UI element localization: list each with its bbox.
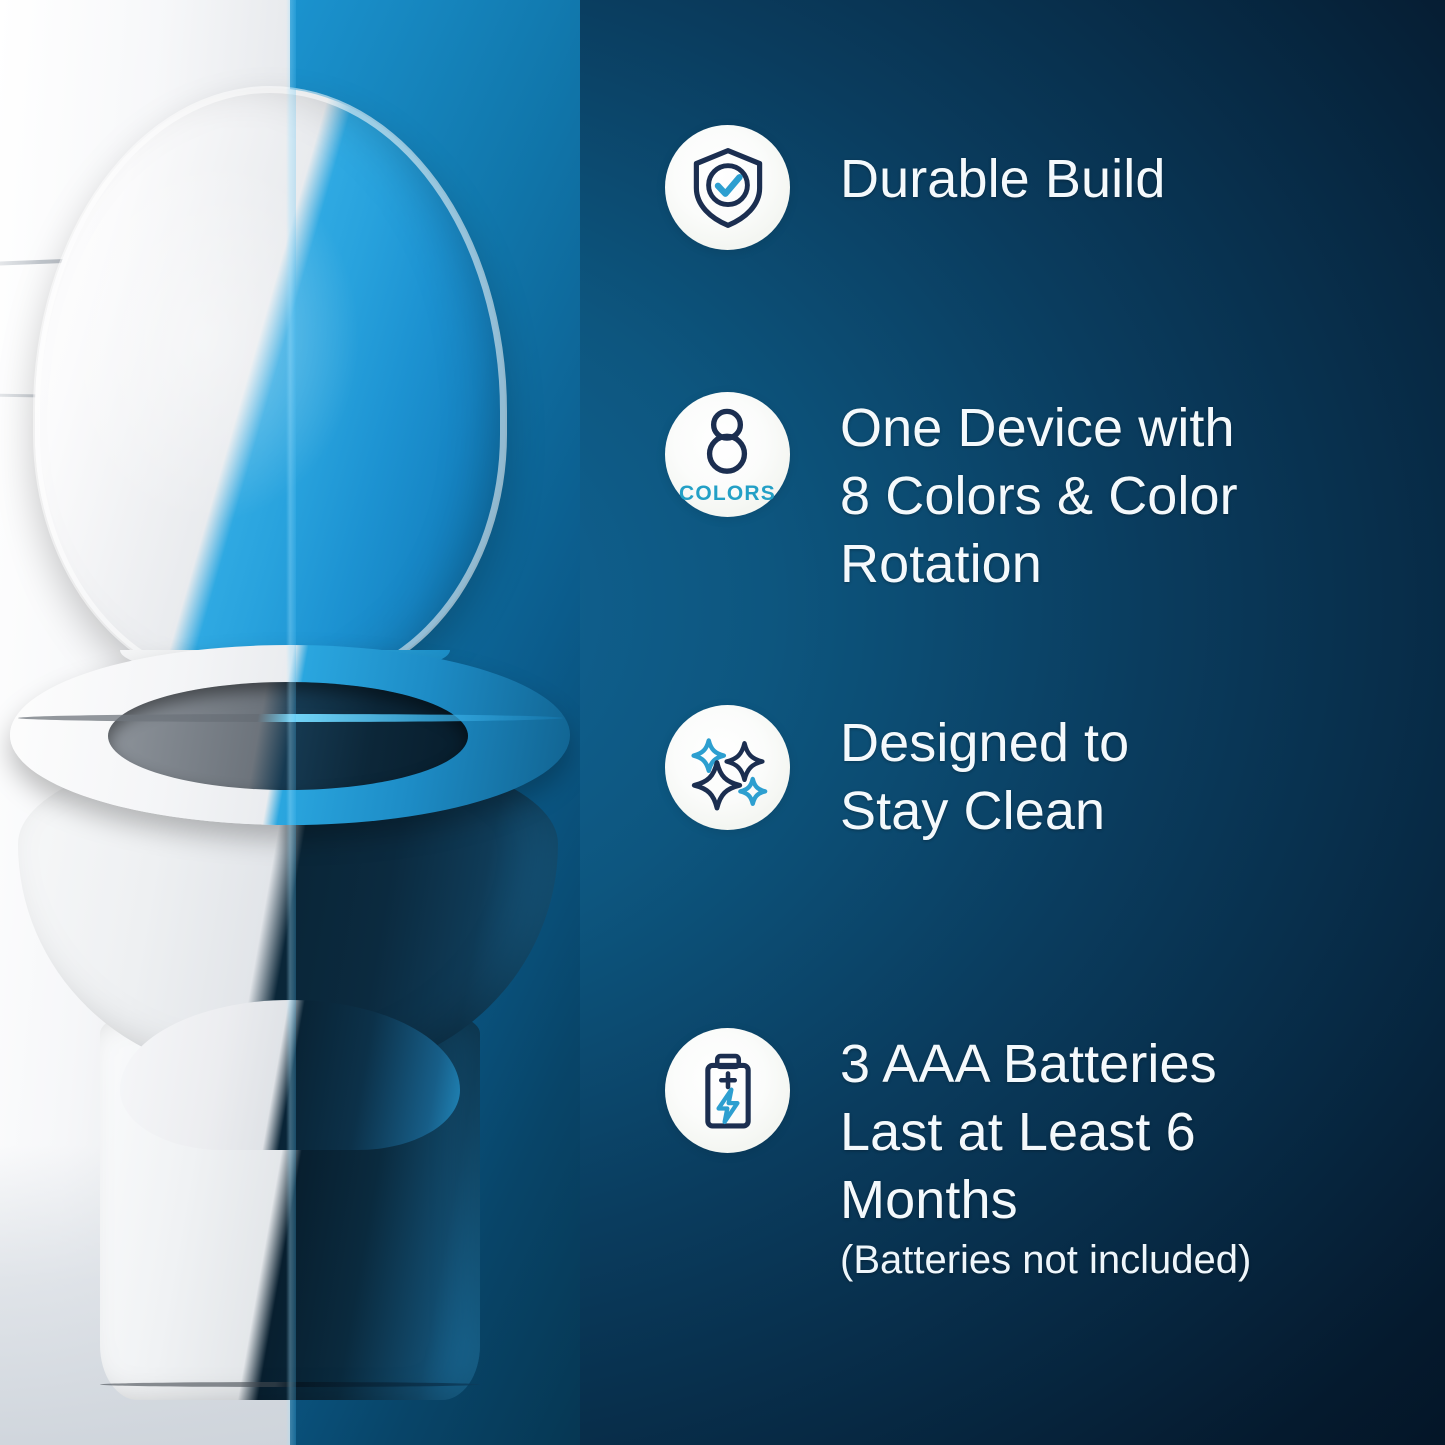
feature-text-durable-build: Durable Build [840, 125, 1166, 213]
eight-colors-label: COLORS [679, 483, 776, 504]
feature-line: 8 Colors & Color [840, 462, 1238, 530]
feature-item-battery-life: 3 AAA Batteries Last at Least 6 Months (… [640, 1028, 1251, 1286]
digit-eight-outline-icon [696, 405, 758, 477]
feature-list: Durable Build COLORS One Device with 8 C… [640, 0, 1445, 1445]
feature-text-stay-clean: Designed to Stay Clean [840, 705, 1129, 845]
feature-line: 3 AAA Batteries [840, 1030, 1251, 1098]
shield-check-icon [665, 125, 790, 250]
feature-item-stay-clean: Designed to Stay Clean [640, 705, 1129, 845]
feature-line: Months [840, 1166, 1251, 1234]
product-photo [0, 0, 580, 1445]
feature-item-eight-colors: COLORS One Device with 8 Colors & Color … [640, 392, 1238, 598]
feature-line: Designed to [840, 709, 1129, 777]
eight-colors-badge: COLORS [679, 405, 776, 504]
feature-line: Stay Clean [840, 777, 1129, 845]
toilet-seat-opening [108, 682, 468, 790]
eight-colors-icon: COLORS [665, 392, 790, 517]
product-feature-poster: Durable Build COLORS One Device with 8 C… [0, 0, 1445, 1445]
feature-line: Rotation [840, 530, 1238, 598]
feature-line: One Device with [840, 394, 1238, 462]
feature-text-battery-life: 3 AAA Batteries Last at Least 6 Months (… [840, 1028, 1251, 1286]
feature-line: Last at Least 6 [840, 1098, 1251, 1166]
feature-item-durable-build: Durable Build [640, 125, 1166, 250]
toilet-seat-rim-highlight [18, 714, 563, 722]
feature-line: Durable Build [840, 145, 1166, 213]
sparkles-icon [665, 705, 790, 830]
toilet-base-line [100, 1382, 480, 1387]
feature-disclaimer: (Batteries not included) [840, 1234, 1251, 1286]
feature-text-eight-colors: One Device with 8 Colors & Color Rotatio… [840, 392, 1238, 598]
battery-bolt-icon [665, 1028, 790, 1153]
